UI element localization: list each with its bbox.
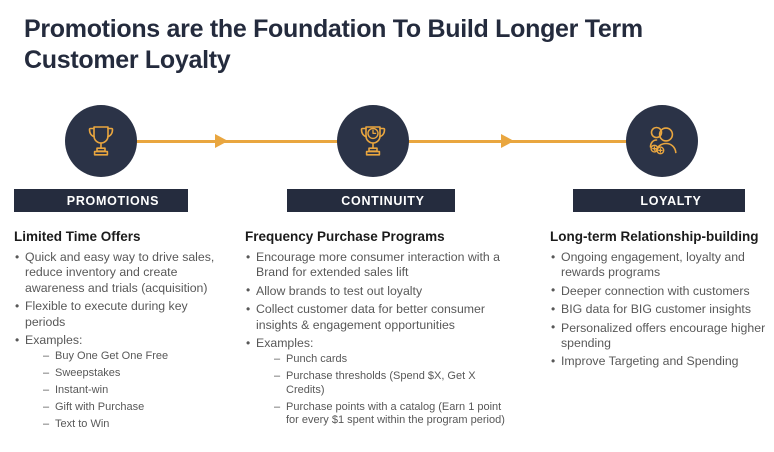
list-item: Deeper connection with customers bbox=[550, 284, 766, 299]
stage-icon-loyalty bbox=[626, 105, 698, 177]
sub-list-item: Gift with Purchase bbox=[43, 401, 229, 415]
arrow-line bbox=[398, 140, 630, 143]
column-heading: Frequency Purchase Programs bbox=[245, 228, 515, 245]
arrow-line bbox=[112, 140, 344, 143]
column-heading: Limited Time Offers bbox=[14, 228, 229, 245]
sub-list-item: Instant-win bbox=[43, 384, 229, 398]
sub-bullet-list: Buy One Get One Free Sweepstakes Instant… bbox=[25, 350, 229, 432]
sub-list-item: Buy One Get One Free bbox=[43, 350, 229, 364]
bullet-text: Flexible to execute during key periods bbox=[25, 299, 229, 330]
list-item: Examples: Buy One Get One Free Sweepstak… bbox=[14, 333, 229, 432]
list-item: Examples: Punch cards Purchase threshold… bbox=[245, 336, 515, 428]
list-item: Improve Targeting and Spending bbox=[550, 354, 766, 369]
stage-icon-continuity bbox=[337, 105, 409, 177]
sub-bullet-list: Punch cards Purchase thresholds (Spend $… bbox=[256, 353, 515, 428]
stage-icon-promotions bbox=[65, 105, 137, 177]
stage-label-continuity: CONTINUITY bbox=[287, 189, 455, 212]
bullet-text: BIG data for BIG customer insights bbox=[561, 302, 766, 317]
bullet-list: Ongoing engagement, loyalty and rewards … bbox=[550, 250, 766, 370]
bullet-text: Encourage more consumer interaction with… bbox=[256, 250, 515, 281]
arrow-connector-continuity-to-loyalty bbox=[398, 139, 630, 143]
arrow-head-icon bbox=[215, 134, 228, 148]
bullet-text: Quick and easy way to drive sales, reduc… bbox=[25, 250, 229, 296]
stage-content-promotions: Limited Time Offers Quick and easy way t… bbox=[14, 228, 229, 435]
bullet-text: Personalized offers encourage higher spe… bbox=[561, 321, 766, 352]
list-item: Ongoing engagement, loyalty and rewards … bbox=[550, 250, 766, 281]
trophy-icon bbox=[81, 121, 121, 161]
bullet-text: Collect customer data for better consume… bbox=[256, 302, 515, 333]
list-item: Quick and easy way to drive sales, reduc… bbox=[14, 250, 229, 296]
bullet-list: Encourage more consumer interaction with… bbox=[245, 250, 515, 428]
stage-content-loyalty: Long-term Relationship-building Ongoing … bbox=[550, 228, 766, 373]
bullet-text: Improve Targeting and Spending bbox=[561, 354, 766, 369]
bullet-text: Examples: bbox=[256, 336, 515, 351]
sub-list-item: Purchase thresholds (Spend $X, Get X Cre… bbox=[274, 370, 515, 397]
stage-label-promotions: PROMOTIONS bbox=[14, 189, 188, 212]
stage-label-text: LOYALTY bbox=[616, 194, 701, 208]
stage-content-continuity: Frequency Purchase Programs Encourage mo… bbox=[245, 228, 515, 431]
stage-label-loyalty: LOYALTY bbox=[573, 189, 745, 212]
list-item: BIG data for BIG customer insights bbox=[550, 302, 766, 317]
process-flow bbox=[0, 105, 774, 185]
bullet-text: Ongoing engagement, loyalty and rewards … bbox=[561, 250, 766, 281]
list-item: Collect customer data for better consume… bbox=[245, 302, 515, 333]
arrow-head-icon bbox=[501, 134, 514, 148]
trophy-clock-icon bbox=[353, 121, 393, 161]
list-item: Personalized offers encourage higher spe… bbox=[550, 321, 766, 352]
list-item: Allow brands to test out loyalty bbox=[245, 284, 515, 299]
sub-list-item: Punch cards bbox=[274, 353, 515, 367]
arrow-connector-promotions-to-continuity bbox=[112, 139, 344, 143]
list-item: Encourage more consumer interaction with… bbox=[245, 250, 515, 281]
customers-plus-icon bbox=[642, 121, 682, 161]
column-heading: Long-term Relationship-building bbox=[550, 228, 766, 245]
stage-label-text: CONTINUITY bbox=[317, 194, 424, 208]
bullet-text: Examples: bbox=[25, 333, 229, 348]
bullet-list: Quick and easy way to drive sales, reduc… bbox=[14, 250, 229, 432]
stage-label-text: PROMOTIONS bbox=[43, 194, 159, 208]
page-title: Promotions are the Foundation To Build L… bbox=[24, 14, 739, 76]
sub-list-item: Sweepstakes bbox=[43, 367, 229, 381]
sub-list-item: Purchase points with a catalog (Earn 1 p… bbox=[274, 401, 515, 428]
bullet-text: Deeper connection with customers bbox=[561, 284, 766, 299]
bullet-text: Allow brands to test out loyalty bbox=[256, 284, 515, 299]
sub-list-item: Text to Win bbox=[43, 418, 229, 432]
list-item: Flexible to execute during key periods bbox=[14, 299, 229, 330]
